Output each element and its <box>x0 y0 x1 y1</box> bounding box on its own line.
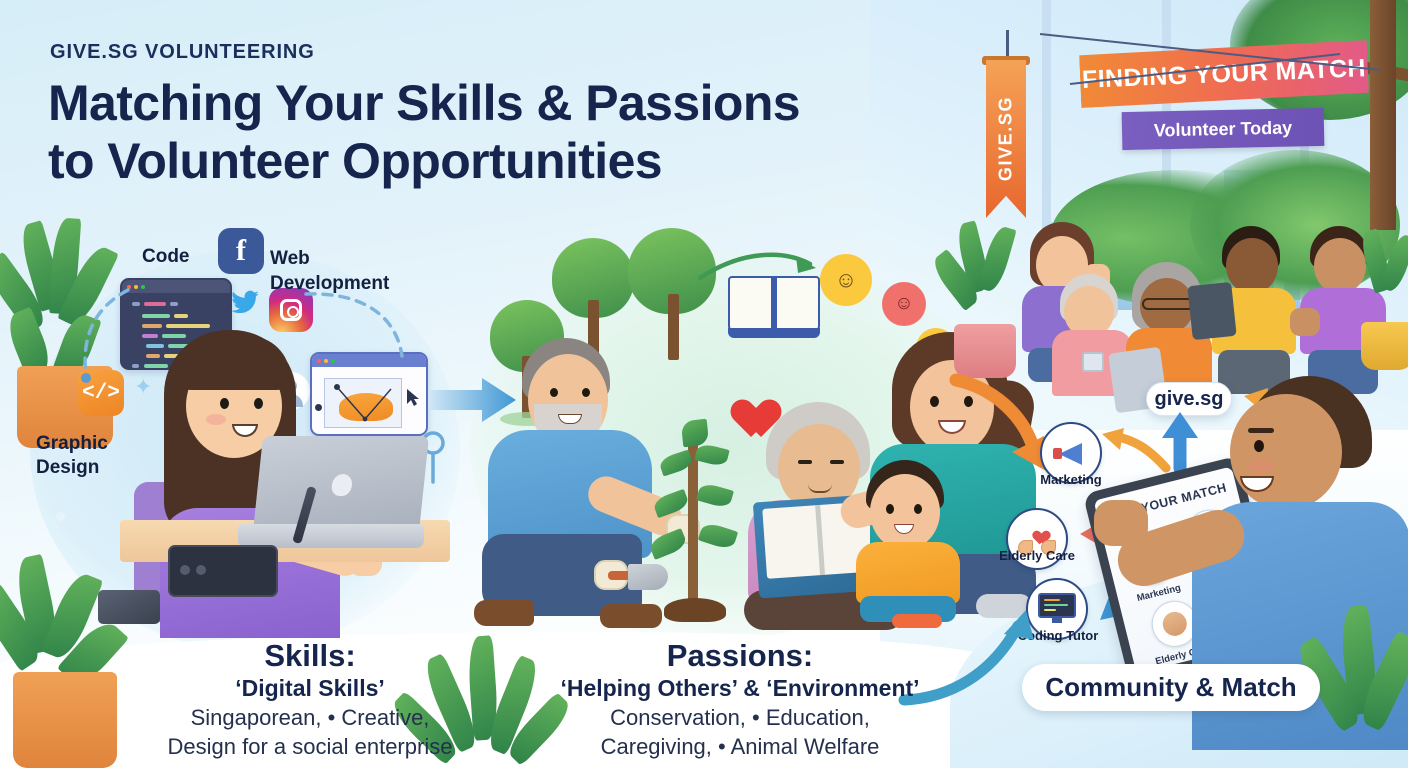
code-line <box>1044 599 1060 601</box>
passions-caption: Passions: ‘Helping Others’ & ‘Environmen… <box>520 638 960 761</box>
smiley-icon: ☺ <box>820 254 872 306</box>
passions-caption-title: Passions: <box>520 638 960 674</box>
community-match-pill-text: Community & Match <box>1045 672 1296 703</box>
page-title-line2: to Volunteer Opportunities <box>48 132 868 190</box>
book-page-right <box>775 276 820 332</box>
leaf-icon <box>694 442 729 467</box>
sapling-tree <box>640 420 750 626</box>
label-graphic-design-l2: Design <box>36 456 108 480</box>
page-title-line1: Matching Your Skills & Passions <box>48 74 868 132</box>
label-web-development-l1: Web <box>270 246 389 271</box>
hand-pointing <box>1094 500 1148 546</box>
book-spine <box>771 276 777 332</box>
open-book-icon <box>728 276 820 338</box>
mug-icon <box>1082 352 1104 372</box>
potted-plant-midright <box>940 222 1030 378</box>
eye <box>582 388 590 397</box>
eye <box>550 388 558 397</box>
passions-caption-line1: Conservation, • Education, <box>520 703 960 732</box>
arrow-blue-up-to-brand <box>1158 410 1206 472</box>
book-page-left <box>728 276 773 332</box>
drawing-tablet <box>168 545 278 597</box>
eye <box>886 504 894 514</box>
passions-caption-line2: Caregiving, • Animal Welfare <box>520 732 960 761</box>
maximize-dot-icon <box>141 285 145 289</box>
tablet-button <box>180 565 190 575</box>
flower-pot <box>1361 322 1408 370</box>
book-shadow <box>728 328 820 338</box>
megaphone-handle <box>1053 448 1062 459</box>
smiley-icon: ☺ <box>882 282 926 326</box>
hand-clapping <box>1290 308 1320 336</box>
flower-pot <box>13 672 117 768</box>
child-boy <box>852 460 972 626</box>
tablet-device <box>1187 282 1236 340</box>
code-line <box>166 324 210 328</box>
torso-shirt <box>856 542 960 604</box>
eye <box>1254 440 1264 452</box>
leaf-icon <box>696 482 734 510</box>
megaphone-icon <box>1053 440 1089 466</box>
cheek-blush <box>206 414 226 425</box>
leaf-icon <box>652 489 690 518</box>
heart-glyph <box>1029 525 1046 540</box>
twitter-bird-icon <box>230 290 260 316</box>
head <box>1226 238 1278 294</box>
megaphone-cone <box>1059 443 1082 465</box>
leaf-icon <box>698 521 738 551</box>
leaf-icon <box>648 528 689 560</box>
instagram-camera-glyph <box>280 299 302 321</box>
sparkle-dot-icon <box>56 512 65 521</box>
tablet-button <box>196 565 206 575</box>
label-graphic-design: Graphic Design <box>36 432 108 480</box>
monitor-stand <box>1052 618 1062 623</box>
twitter-icon <box>228 288 262 318</box>
facebook-icon: f <box>218 228 264 274</box>
infographic-canvas: GIVE.SG VOLUNTEERING Matching Your Skill… <box>0 0 1408 768</box>
cursor-icon <box>406 388 422 408</box>
community-match-pill[interactable]: Community & Match <box>1022 664 1320 711</box>
head <box>1230 394 1342 510</box>
passions-caption-subtitle: ‘Helping Others’ & ‘Environment’ <box>520 674 960 703</box>
head <box>870 474 940 550</box>
soil-mound <box>664 598 726 622</box>
givesg-vertical-banner-text: GIVE.SG <box>996 59 1017 219</box>
plant-bottomright <box>1310 606 1408 768</box>
label-graphic-design-l1: Graphic <box>36 432 108 456</box>
hair-fringe <box>178 336 290 390</box>
skills-caption: Skills: ‘Digital Skills’ Singaporean, • … <box>110 638 510 761</box>
code-line <box>144 302 166 306</box>
community-person-yellow-man <box>1212 226 1302 394</box>
eye <box>930 396 939 407</box>
code-line <box>142 324 162 328</box>
skills-caption-line2: Design for a social enterprise <box>110 732 510 761</box>
skills-caption-line1: Singaporean, • Creative, <box>110 703 510 732</box>
skills-caption-title: Skills: <box>110 638 510 674</box>
cheek-blush <box>1248 460 1274 473</box>
laptop-screen <box>253 436 429 532</box>
potted-plant-community <box>1352 230 1408 370</box>
eye <box>220 398 229 409</box>
eyebrow <box>1248 428 1274 433</box>
label-code: Code <box>142 246 190 268</box>
code-line <box>142 314 170 318</box>
elderly-person-icon <box>1160 609 1189 638</box>
apple-logo-icon <box>331 474 353 496</box>
skills-caption-subtitle: ‘Digital Skills’ <box>110 674 510 703</box>
brand-kicker: GIVE.SG VOLUNTEERING <box>50 41 315 64</box>
code-line <box>170 302 178 306</box>
glasses-icon <box>1142 298 1194 310</box>
shoe <box>474 600 534 626</box>
code-line <box>174 314 188 318</box>
eye <box>798 460 812 464</box>
page-title: Matching Your Skills & Passions to Volun… <box>48 74 868 190</box>
eye <box>830 460 844 464</box>
banner-rope <box>1040 30 1380 120</box>
eye <box>254 398 263 409</box>
givesg-vertical-banner: GIVE.SG <box>986 60 1026 218</box>
eye <box>914 504 922 514</box>
leaf-icon <box>681 419 710 448</box>
